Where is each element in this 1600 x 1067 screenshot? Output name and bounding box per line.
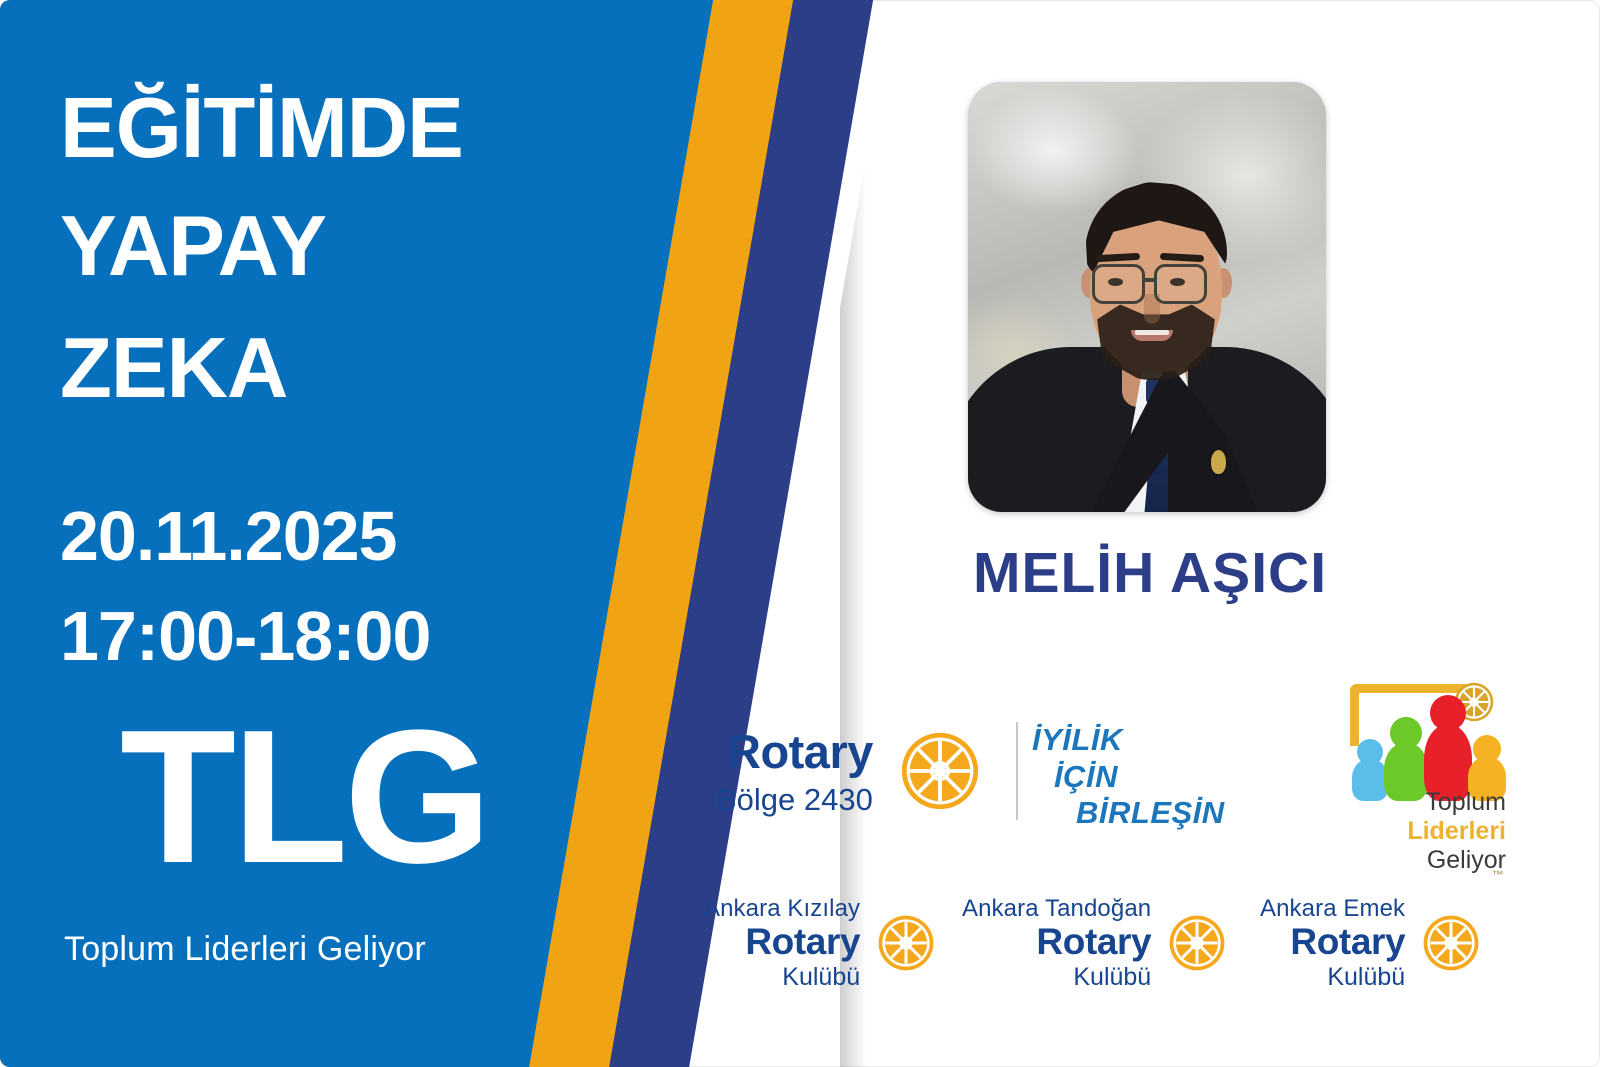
club-wordmark: Ankara Kızılay Rotary Kulübü bbox=[704, 896, 860, 990]
rotary-wheel-icon bbox=[1414, 906, 1488, 980]
club-logo-ankara-tandogan: Ankara Tandoğan Rotary Kulübü bbox=[962, 896, 1234, 990]
rotary-district-wordmark: Rotary Bölge 2430 bbox=[716, 728, 873, 815]
speaker-name: MELİH AŞICI bbox=[840, 540, 1460, 606]
rotary-district-logo: Rotary Bölge 2430 bbox=[716, 718, 993, 824]
club-logo-ankara-kizilay: Ankara Kızılay Rotary Kulübü bbox=[704, 896, 943, 990]
rotary-district-label: Bölge 2430 bbox=[716, 784, 873, 815]
eyeglasses-lens-right bbox=[1154, 264, 1207, 304]
headline-line-2: YAPAY bbox=[60, 204, 326, 291]
program-name: Toplum Liderleri Geliyor bbox=[64, 930, 426, 969]
club-city: Ankara Kızılay bbox=[704, 896, 860, 921]
tlg-wordmark: Toplum Liderleri Geliyor ™ bbox=[1338, 788, 1506, 875]
speaker-portrait bbox=[968, 82, 1326, 512]
rotary-wheel-icon bbox=[887, 718, 993, 824]
rotary-tagline: İYİLİK İÇİN BİRLEŞİN bbox=[1032, 722, 1225, 832]
headline-line-1: EĞİTİMDE bbox=[60, 86, 463, 173]
tlg-brand-logo: Toplum Liderleri Geliyor ™ bbox=[1338, 670, 1508, 885]
event-poster: EĞİTİMDE YAPAY ZEKA 20.11.2025 17:00-18:… bbox=[0, 0, 1600, 1067]
club-wordmark: Ankara Tandoğan Rotary Kulübü bbox=[962, 896, 1151, 990]
logo-divider bbox=[1016, 722, 1018, 820]
left-info-column: EĞİTİMDE YAPAY ZEKA 20.11.2025 17:00-18:… bbox=[60, 0, 580, 1067]
eyeglasses-bridge bbox=[1144, 278, 1156, 282]
program-abbreviation: TLG bbox=[120, 710, 488, 885]
tlg-word-2: Liderleri bbox=[1338, 817, 1506, 846]
club-logo-row: Ankara Kızılay Rotary Kulübü bbox=[690, 890, 1570, 1030]
teeth-shape bbox=[1135, 330, 1169, 335]
club-city: Ankara Tandoğan bbox=[962, 896, 1151, 921]
tagline-line-1: İYİLİK bbox=[1032, 722, 1123, 757]
headline-line-3: ZEKA bbox=[60, 326, 287, 413]
lapel-pin-icon bbox=[1211, 450, 1226, 474]
rotary-wheel-icon bbox=[1160, 906, 1234, 980]
club-brand: Rotary bbox=[962, 923, 1151, 962]
tagline-line-2: İÇİN bbox=[1054, 759, 1225, 796]
club-logo-ankara-emek: Ankara Emek Rotary Kulübü bbox=[1260, 896, 1488, 990]
person-red-icon bbox=[1424, 695, 1472, 801]
rotary-wheel-icon bbox=[869, 906, 943, 980]
tlg-word-1: Toplum bbox=[1338, 788, 1506, 817]
club-kind: Kulübü bbox=[1260, 964, 1405, 990]
club-kind: Kulübü bbox=[704, 964, 860, 990]
event-date: 20.11.2025 bbox=[60, 500, 396, 573]
club-kind: Kulübü bbox=[962, 964, 1151, 990]
club-city: Ankara Emek bbox=[1260, 896, 1405, 921]
eyeglasses-lens-left bbox=[1092, 264, 1145, 304]
event-time: 17:00-18:00 bbox=[60, 600, 430, 673]
rotary-brand-word: Rotary bbox=[716, 728, 873, 775]
tlg-word-3: Geliyor bbox=[1338, 846, 1506, 875]
club-brand: Rotary bbox=[704, 923, 860, 962]
trademark-mark: ™ bbox=[1492, 869, 1504, 883]
tagline-line-3: BİRLEŞİN bbox=[1076, 795, 1225, 832]
club-wordmark: Ankara Emek Rotary Kulübü bbox=[1260, 896, 1405, 990]
club-brand: Rotary bbox=[1260, 923, 1405, 962]
